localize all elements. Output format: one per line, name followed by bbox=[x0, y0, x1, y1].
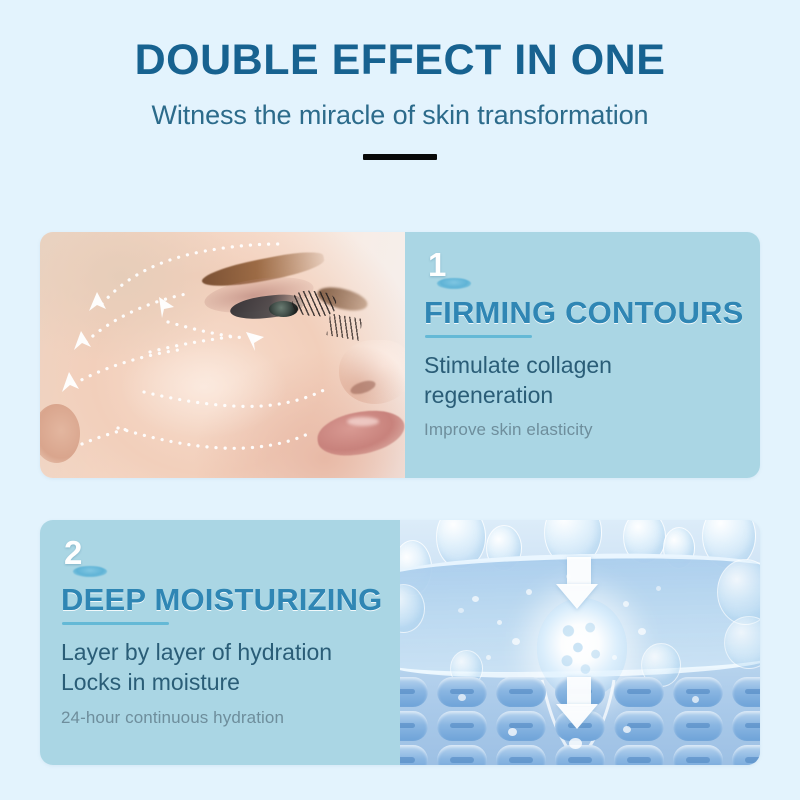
skin-cell bbox=[732, 677, 760, 707]
heading-accent-rule bbox=[62, 622, 169, 625]
card-body-firming: Stimulate collagen regeneration bbox=[424, 351, 612, 411]
page-title: DOUBLE EFFECT IN ONE bbox=[0, 38, 800, 83]
title-divider bbox=[363, 154, 437, 160]
step-number: 2 bbox=[64, 536, 82, 569]
skin-cell bbox=[732, 711, 760, 741]
skin-cell bbox=[614, 677, 664, 707]
skin-cell bbox=[496, 711, 546, 741]
penetration-arrow-head bbox=[556, 704, 598, 729]
skin-cell bbox=[673, 677, 723, 707]
benefit-card-moisturizing: 2 DEEP MOISTURIZING Layer by layer of hy… bbox=[40, 520, 760, 765]
skin-cell bbox=[555, 745, 605, 765]
step-number: 1 bbox=[428, 248, 446, 281]
moisturizing-text-panel: 2 DEEP MOISTURIZING Layer by layer of hy… bbox=[40, 520, 400, 765]
penetration-arrow-shaft bbox=[567, 677, 590, 706]
skin-cell bbox=[437, 677, 487, 707]
benefit-card-firming: 1 FIRMING CONTOURS Stimulate collagen re… bbox=[40, 232, 760, 478]
skin-cell bbox=[732, 745, 760, 765]
card-body-moisturizing: Layer by layer of hydration Locks in moi… bbox=[61, 638, 332, 698]
skin-cell bbox=[496, 745, 546, 765]
skin-cell bbox=[496, 677, 546, 707]
skin-cell bbox=[437, 745, 487, 765]
face-lifting-photo bbox=[40, 232, 405, 478]
card-heading-moisturizing: DEEP MOISTURIZING bbox=[61, 582, 382, 618]
skin-cell bbox=[400, 745, 428, 765]
heading-accent-rule bbox=[425, 335, 532, 338]
card-heading-firming: FIRMING CONTOURS bbox=[424, 295, 744, 331]
skin-cell bbox=[437, 711, 487, 741]
skin-cell bbox=[673, 711, 723, 741]
page-subtitle: Witness the miracle of skin transformati… bbox=[0, 100, 800, 131]
skin-cell bbox=[400, 677, 428, 707]
card-note-moisturizing: 24-hour continuous hydration bbox=[61, 708, 284, 728]
skin-cell bbox=[673, 745, 723, 765]
hydration-illustration bbox=[400, 520, 760, 765]
step-number-badge-1: 1 bbox=[428, 252, 482, 294]
skin-cell bbox=[400, 711, 428, 741]
card-note-firming: Improve skin elasticity bbox=[424, 420, 593, 440]
firming-text-panel: 1 FIRMING CONTOURS Stimulate collagen re… bbox=[405, 232, 760, 478]
header: DOUBLE EFFECT IN ONE Witness the miracle… bbox=[0, 0, 800, 160]
skin-cell-row bbox=[400, 745, 760, 765]
lifting-arrows-overlay bbox=[40, 232, 405, 478]
step-number-badge-2: 2 bbox=[64, 540, 118, 582]
skin-cell bbox=[614, 745, 664, 765]
skin-cell bbox=[614, 711, 664, 741]
